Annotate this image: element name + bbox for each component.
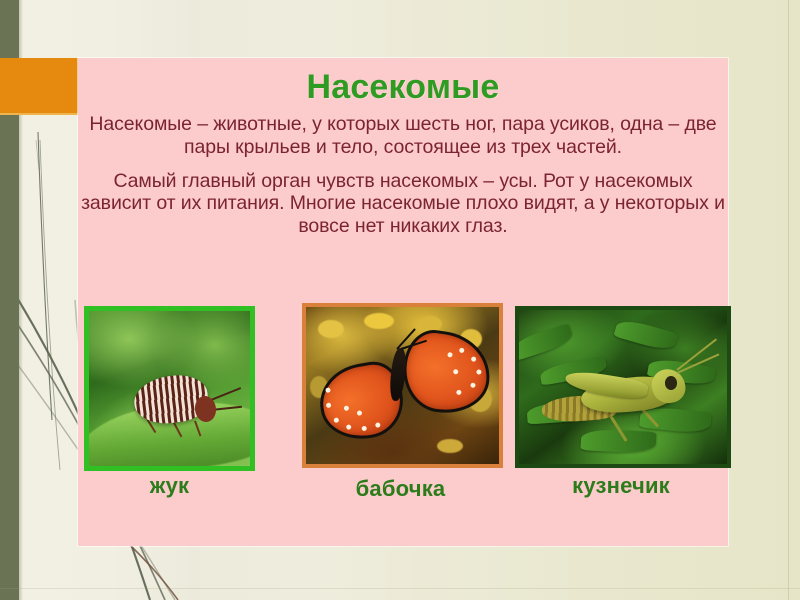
butterfly-scene (306, 307, 499, 464)
right-border-line (788, 0, 789, 600)
photo-beetle (84, 306, 255, 471)
photo-butterfly-image (306, 307, 499, 464)
flower-cluster (318, 320, 344, 338)
page-title: Насекомые (78, 58, 728, 104)
photo-butterfly (302, 303, 503, 468)
butterfly-body (388, 347, 407, 401)
orange-accent-block-edge (0, 113, 79, 115)
beetle-scene (89, 311, 250, 466)
flower-cluster (364, 313, 394, 329)
caption-row: жук бабочка кузнечик (78, 473, 728, 515)
photo-grasshopper-image (519, 310, 727, 464)
caption-butterfly: бабочка (300, 476, 501, 502)
fern-leaf (519, 322, 575, 360)
flower-cluster (437, 439, 463, 453)
photo-row (78, 303, 728, 468)
photo-grasshopper (515, 306, 731, 468)
content-panel: Насекомые Насекомые – животные, у которы… (78, 58, 728, 546)
caption-grasshopper: кузнечик (513, 473, 729, 499)
beetle-antenna-upper (211, 387, 241, 400)
grasshopper-scene (519, 310, 727, 464)
photo-beetle-image (89, 311, 250, 466)
definition-paragraph: Насекомые – животные, у которых шесть но… (78, 113, 728, 159)
fern-leaf (613, 317, 678, 353)
grasshopper-eye (665, 376, 677, 390)
senses-paragraph: Самый главный орган чувств насекомых – у… (78, 170, 728, 238)
bottom-border-line (0, 588, 800, 589)
caption-beetle: жук (84, 473, 255, 499)
orange-accent-block (0, 58, 79, 113)
slide-canvas: Насекомые Насекомые – животные, у которы… (0, 0, 800, 600)
